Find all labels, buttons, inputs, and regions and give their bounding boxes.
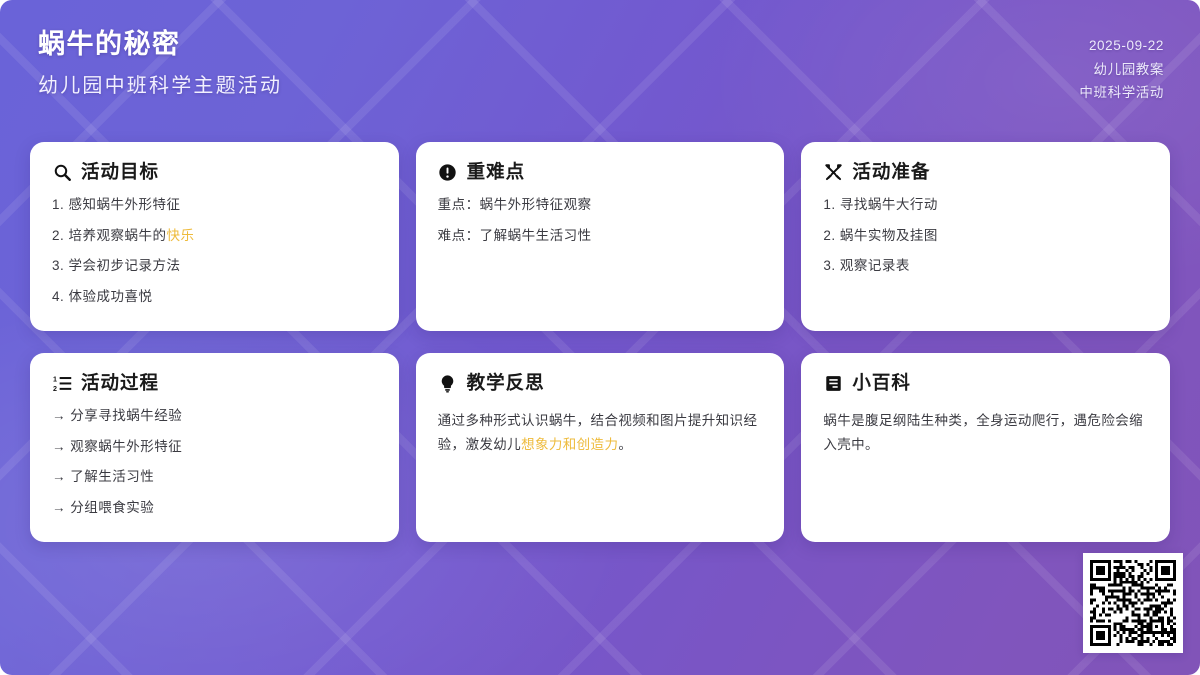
card: 教学反思通过多种形式认识蜗牛，结合视频和图片提升知识经验，激发幼儿想象力和创造力… [416,353,785,542]
list-item-label: 寻找蜗牛大行动 [840,197,938,212]
card-header: 教学反思 [438,373,763,393]
list-item-prefix: 3. [823,258,835,273]
header-meta-line-2: 中班科学活动 [1079,81,1164,105]
card-title: 教学反思 [467,374,545,393]
list-item-prefix: → [52,408,66,423]
list-item: 2. 培养观察蜗牛的快乐 [52,229,377,243]
list-item-prefix: 2. [52,228,64,243]
card-header: 12活动过程 [52,373,377,393]
card: 小百科蜗牛是腹足纲陆生种类，全身运动爬行，遇危险会缩入壳中。 [801,353,1170,542]
card-paragraph: 通过多种形式认识蜗牛，结合视频和图片提升知识经验，激发幼儿想象力和创造力。 [438,409,763,456]
list-item-label: 培养观察蜗牛的 [69,228,167,243]
list-item-prefix: 2. [823,228,835,243]
slide-canvas: 蜗牛的秘密 幼儿园中班科学主题活动 2025-09-22 幼儿园教案 中班科学活… [0,0,1200,675]
list-item-label: 了解生活习性 [70,469,154,484]
list-item: → 分享寻找蜗牛经验 [52,409,377,423]
list-item-prefix: 1. [52,197,64,212]
card-item-list: 重点：蜗牛外形特征观察难点：了解蜗牛生活习性 [438,198,763,242]
list-item: 1. 寻找蜗牛大行动 [823,198,1148,212]
paragraph-text-tail: 。 [618,437,632,452]
list-item: 4. 体验成功喜悦 [52,290,377,304]
list-item-prefix: 4. [52,289,64,304]
list-item-label: 重点：蜗牛外形特征观察 [438,197,592,212]
search-icon [52,162,72,182]
list-item-label: 体验成功喜悦 [69,289,153,304]
list-item-highlight: 快乐 [167,228,195,243]
card: 活动目标1. 感知蜗牛外形特征2. 培养观察蜗牛的快乐3. 学会初步记录方法4.… [30,142,399,331]
list-item-label: 蜗牛实物及挂图 [840,228,938,243]
list-item: → 分组喂食实验 [52,501,377,515]
ordered-list-icon: 12 [52,373,72,393]
card-title: 重难点 [467,163,526,182]
list-item-label: 观察记录表 [840,258,910,273]
card-header: 小百科 [823,373,1148,393]
qr-code-image [1090,560,1176,646]
card: 活动准备1. 寻找蜗牛大行动2. 蜗牛实物及挂图3. 观察记录表 [801,142,1170,331]
list-item-label: 感知蜗牛外形特征 [69,197,181,212]
page-subtitle: 幼儿园中班科学主题活动 [38,74,282,99]
svg-text:1: 1 [53,375,57,383]
tools-icon [823,162,843,182]
qr-code[interactable] [1083,553,1183,653]
card-header: 活动准备 [823,162,1148,182]
card-title: 活动目标 [81,163,159,182]
list-item: → 观察蜗牛外形特征 [52,440,377,454]
header-date: 2025-09-22 [1079,34,1164,58]
list-item-prefix: 3. [52,258,64,273]
card-header: 活动目标 [52,162,377,182]
list-item-label: 观察蜗牛外形特征 [70,439,182,454]
paragraph-text: 蜗牛是腹足纲陆生种类，全身运动爬行，遇危险会缩入壳中。 [823,413,1143,452]
list-item-label: 分享寻找蜗牛经验 [70,408,182,423]
svg-text:2: 2 [53,385,57,393]
header-meta-line-1: 幼儿园教案 [1079,58,1164,82]
card-title: 小百科 [852,374,911,393]
list-item: 重点：蜗牛外形特征观察 [438,198,763,212]
header-title-group: 蜗牛的秘密 幼儿园中班科学主题活动 [38,28,282,99]
list-item-label: 学会初步记录方法 [69,258,181,273]
page-title: 蜗牛的秘密 [38,28,282,62]
list-item-prefix: → [52,439,66,454]
card-item-list: 1. 感知蜗牛外形特征2. 培养观察蜗牛的快乐3. 学会初步记录方法4. 体验成… [52,198,377,303]
list-item: 3. 观察记录表 [823,259,1148,273]
list-item-prefix: 1. [823,197,835,212]
header-meta: 2025-09-22 幼儿园教案 中班科学活动 [1079,28,1164,105]
card-item-list: 1. 寻找蜗牛大行动2. 蜗牛实物及挂图3. 观察记录表 [823,198,1148,273]
card-title: 活动准备 [852,163,930,182]
list-item-prefix: → [52,469,66,484]
paragraph-highlight: 想象力和创造力 [521,437,618,452]
card-grid: 活动目标1. 感知蜗牛外形特征2. 培养观察蜗牛的快乐3. 学会初步记录方法4.… [30,142,1170,542]
list-item-label: 难点：了解蜗牛生活习性 [438,228,592,243]
list-item-label: 分组喂食实验 [70,500,154,515]
card-header: 重难点 [438,162,763,182]
list-item: 1. 感知蜗牛外形特征 [52,198,377,212]
list-item: 2. 蜗牛实物及挂图 [823,229,1148,243]
card-item-list: → 分享寻找蜗牛经验→ 观察蜗牛外形特征→ 了解生活习性→ 分组喂食实验 [52,409,377,514]
list-item: 难点：了解蜗牛生活习性 [438,229,763,243]
card-title: 活动过程 [81,374,159,393]
list-item: → 了解生活习性 [52,470,377,484]
card: 重难点重点：蜗牛外形特征观察难点：了解蜗牛生活习性 [416,142,785,331]
list-item: 3. 学会初步记录方法 [52,259,377,273]
book-icon [823,373,843,393]
card: 12活动过程→ 分享寻找蜗牛经验→ 观察蜗牛外形特征→ 了解生活习性→ 分组喂食… [30,353,399,542]
card-paragraph: 蜗牛是腹足纲陆生种类，全身运动爬行，遇危险会缩入壳中。 [823,409,1148,456]
lightbulb-icon [438,373,458,393]
exclamation-circle-icon [438,162,458,182]
list-item-prefix: → [52,500,66,515]
slide-header: 蜗牛的秘密 幼儿园中班科学主题活动 2025-09-22 幼儿园教案 中班科学活… [0,0,1200,132]
